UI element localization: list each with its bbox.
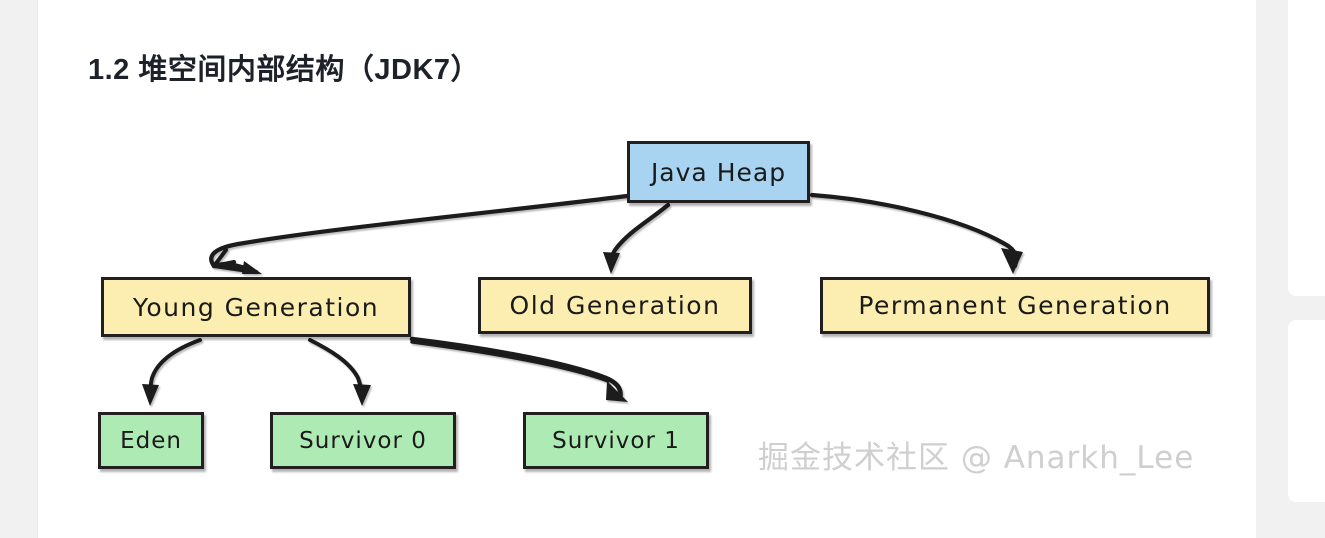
node-label-old-generation: Old Generation: [510, 291, 721, 320]
node-survivor-0[interactable]: Survivor 0: [270, 412, 456, 469]
node-young-generation[interactable]: Young Generation: [101, 277, 411, 337]
edge-heap-to-old: [603, 205, 668, 274]
node-label-survivor-0: Survivor 0: [299, 428, 427, 454]
node-label-java-heap: Java Heap: [651, 158, 786, 187]
page-root: 1.2 堆空间内部结构（JDK7）: [0, 0, 1325, 538]
watermark-text: 掘金技术社区 @ Anarkh_Lee: [758, 432, 1194, 477]
node-label-young-generation: Young Generation: [133, 293, 379, 322]
edge-young-to-eden: [142, 340, 200, 406]
edge-young-to-survivor0: [310, 340, 371, 406]
node-old-generation[interactable]: Old Generation: [478, 277, 752, 334]
node-eden[interactable]: Eden: [98, 412, 204, 469]
node-label-survivor-1: Survivor 1: [552, 428, 680, 454]
node-survivor-1[interactable]: Survivor 1: [523, 412, 709, 469]
edge-young-to-survivor1: [412, 339, 628, 402]
node-label-permanent-generation: Permanent Generation: [858, 291, 1171, 320]
node-permanent-generation[interactable]: Permanent Generation: [820, 277, 1210, 334]
edge-heap-to-permanent: [812, 195, 1023, 274]
node-label-eden: Eden: [120, 428, 182, 454]
edge-heap-to-young: [211, 196, 627, 274]
node-java-heap[interactable]: Java Heap: [627, 141, 810, 203]
